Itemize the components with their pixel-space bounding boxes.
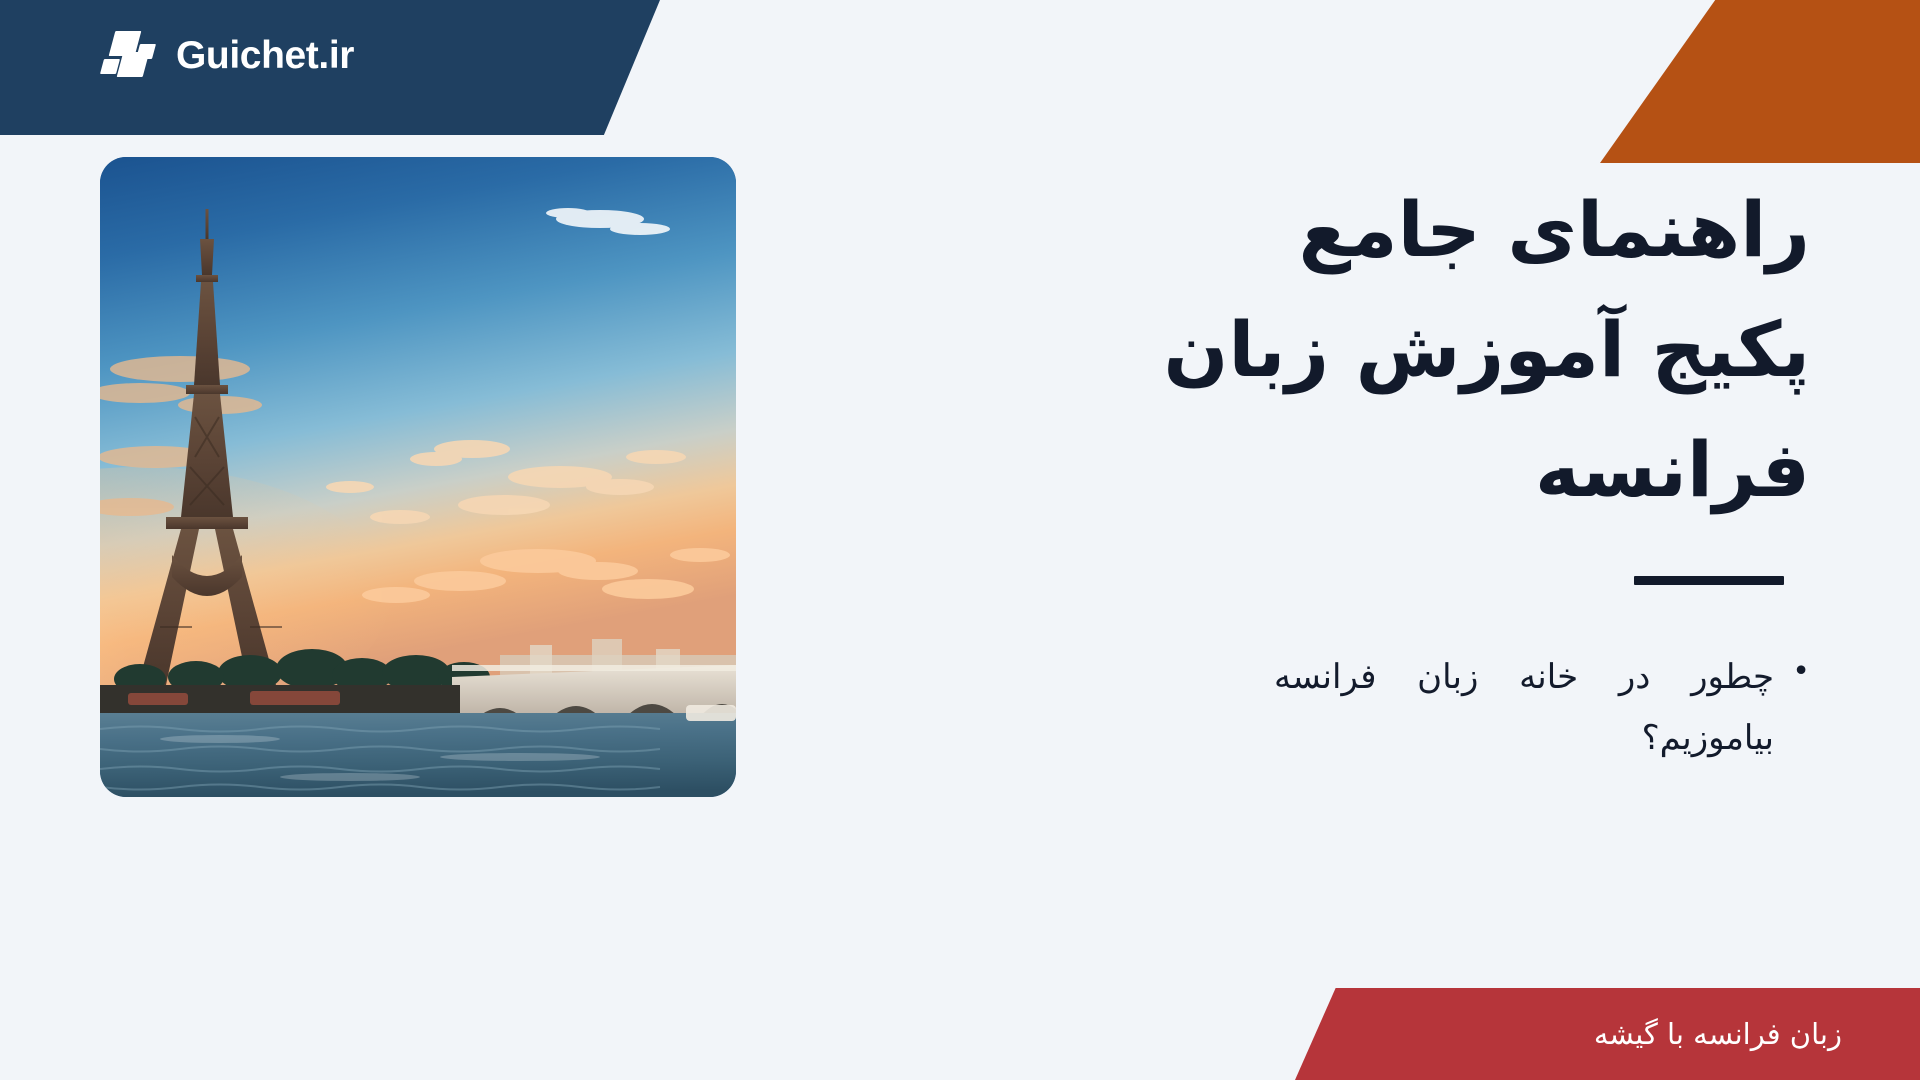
headline-line-3: فرانسه xyxy=(1050,410,1810,530)
content-column: راهنمای جامع پکیج آموزش زبان فرانسه چطور… xyxy=(1050,170,1810,768)
poster-canvas: Guichet.ir xyxy=(0,0,1920,1080)
eiffel-tower-photo xyxy=(100,157,736,797)
list-item: چطور در خانه زبان فرانسه بیاموزیم؟ xyxy=(1274,647,1810,768)
headline-line-2: پکیج آموزش زبان xyxy=(1050,290,1810,410)
cover-photo-card xyxy=(100,157,736,797)
title-divider xyxy=(1634,576,1784,585)
bullet-list: چطور در خانه زبان فرانسه بیاموزیم؟ xyxy=(1050,647,1810,768)
brand-logo[interactable]: Guichet.ir xyxy=(100,27,354,85)
orange-corner-wedge xyxy=(1600,0,1920,163)
headline-line-1: راهنمای جامع xyxy=(1050,170,1810,290)
four-parallelograms-logo-icon xyxy=(100,27,158,85)
footer-banner: زبان فرانسه با گیشه xyxy=(1295,988,1920,1080)
page-title: راهنمای جامع پکیج آموزش زبان فرانسه xyxy=(1050,170,1810,530)
brand-name: Guichet.ir xyxy=(176,34,354,78)
footer-label: زبان فرانسه با گیشه xyxy=(1594,1020,1920,1049)
